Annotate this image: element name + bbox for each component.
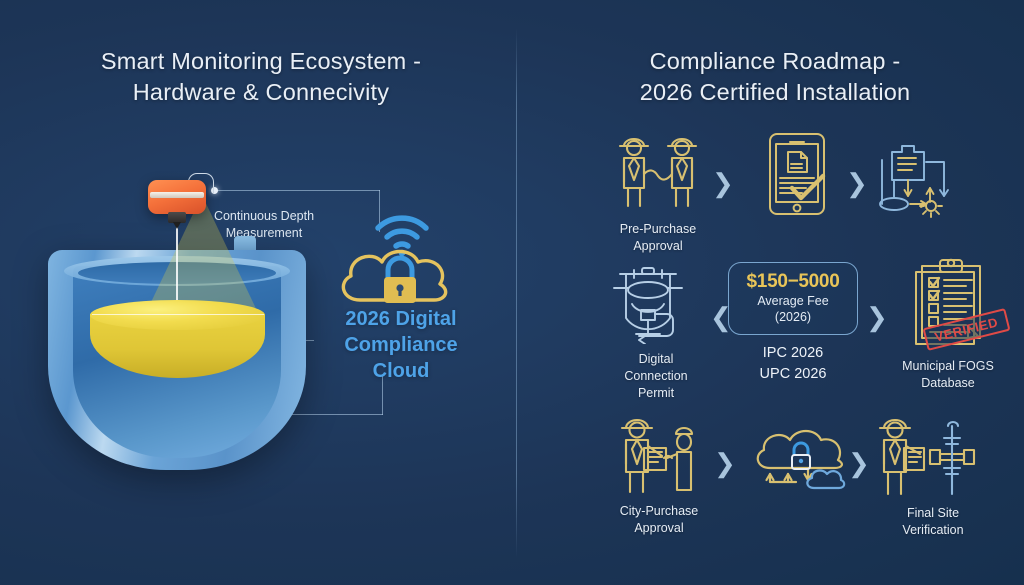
cloud-label-line-1: 2026 Digital <box>308 306 494 332</box>
roadmap-row-3: City-Purchase Approval ❯ <box>516 410 1024 536</box>
process-flow-diagram-icon <box>868 132 984 218</box>
wifi-icon <box>378 218 426 246</box>
inspector-valve-icon <box>868 406 998 498</box>
node-final-site-verification[interactable]: Final Site Verification <box>868 406 998 539</box>
row1-node1-label-2: Approval <box>600 238 716 255</box>
node-label-digital-connection-permit: Digital Connection Permit <box>598 351 714 402</box>
left-panel: Smart Monitoring Ecosystem - Hardware & … <box>0 0 516 585</box>
fee-sub-line-1: Average Fee <box>743 293 843 309</box>
handshake-workers-icon <box>600 128 716 212</box>
average-fee-box[interactable]: $150−5000 Average Fee (2026) <box>728 262 858 335</box>
row3-node1-label-1: City-Purchase <box>600 503 718 520</box>
sensor-emitter-tip <box>173 222 181 229</box>
water-surface-line <box>92 314 264 315</box>
connector-line-top <box>214 190 380 191</box>
interceptor-tank-outline-icon <box>598 256 714 344</box>
left-panel-title: Smart Monitoring Ecosystem - Hardware & … <box>36 46 486 108</box>
row2-node1-label-2: Connection <box>598 368 714 385</box>
cloud-label-line-2: Compliance <box>308 332 494 358</box>
node-label-municipal-fogs: Municipal FOGS Database <box>886 358 1010 392</box>
node-digital-document-approval[interactable] <box>742 128 852 225</box>
node-label-final-site: Final Site Verification <box>868 505 998 539</box>
node-digital-connection-permit[interactable]: Digital Connection Permit <box>598 256 714 402</box>
cloud-wifi-lock-svg <box>326 196 476 316</box>
grease-interceptor-illustration <box>48 250 308 480</box>
row3-arrow-1-icon: ❯ <box>714 450 736 476</box>
cloud-lock-sync-icon <box>744 416 854 500</box>
row2-node3-label-2: Database <box>886 375 1010 392</box>
cloud-label: 2026 Digital Compliance Cloud <box>308 306 494 384</box>
cloud-label-line-3: Cloud <box>308 358 494 384</box>
node-cloud-lock-sync[interactable] <box>744 416 854 505</box>
row3-node1-label-2: Approval <box>600 520 718 537</box>
row2-node3-label-1: Municipal FOGS <box>886 358 1010 375</box>
roadmap-row-2: Digital Connection Permit ❮ $150−5000 Av… <box>516 256 1024 406</box>
inspector-clipboard-icon <box>600 410 718 494</box>
code-upc-2026: UPC 2026 <box>728 364 858 385</box>
row3-arrow-2-icon: ❯ <box>848 450 870 476</box>
roadmap-row-1: Pre-Purchase Approval ❯ <box>516 128 1024 254</box>
fee-and-codes-group: $150−5000 Average Fee (2026) IPC 2026 UP… <box>728 262 858 385</box>
left-title-line-2: Hardware & Connecivity <box>36 77 486 108</box>
node-pre-purchase-approval[interactable]: Pre-Purchase Approval <box>600 128 716 255</box>
row1-arrow-2-icon: ❯ <box>846 170 868 196</box>
left-title-line-1: Smart Monitoring Ecosystem - <box>36 46 486 77</box>
lock-badge-icon <box>792 443 810 469</box>
row3-node3-label-2: Verification <box>868 522 998 539</box>
tank-vessel <box>48 250 306 470</box>
grease-layer-surface <box>90 300 265 330</box>
node-process-flow-diagram[interactable] <box>868 132 984 223</box>
fee-amount: $150−5000 <box>743 271 843 293</box>
node-city-purchase-approval[interactable]: City-Purchase Approval <box>600 410 718 537</box>
right-panel: Compliance Roadmap - 2026 Certified Inst… <box>516 0 1024 585</box>
fee-sub-line-2: (2026) <box>743 309 843 325</box>
right-title-line-1: Compliance Roadmap - <box>560 46 990 77</box>
node-label-pre-purchase: Pre-Purchase Approval <box>600 221 716 255</box>
row3-node3-label-1: Final Site <box>868 505 998 522</box>
row2-arrow-right-icon: ❯ <box>866 304 888 330</box>
right-title-line-2: 2026 Certified Installation <box>560 77 990 108</box>
right-panel-title: Compliance Roadmap - 2026 Certified Inst… <box>560 46 990 108</box>
tablet-document-check-icon <box>742 128 852 220</box>
compliance-cloud-group[interactable]: 2026 Digital Compliance Cloud <box>326 196 476 391</box>
infographic-canvas: Smart Monitoring Ecosystem - Hardware & … <box>0 0 1024 585</box>
node-label-city-purchase: City-Purchase Approval <box>600 503 718 537</box>
node-municipal-fogs-database[interactable]: VERIFIED Municipal FOGS Database <box>886 256 1010 392</box>
sensor-stripe <box>150 192 204 198</box>
ultrasonic-sensor-device[interactable] <box>148 180 218 232</box>
sensor-body <box>148 180 206 214</box>
code-ipc-2026: IPC 2026 <box>728 343 858 364</box>
row1-node1-label-1: Pre-Purchase <box>600 221 716 238</box>
lock-icon <box>384 258 416 303</box>
row2-node1-label-1: Digital <box>598 351 714 368</box>
row1-arrow-1-icon: ❯ <box>712 170 734 196</box>
row2-node1-label-3: Permit <box>598 385 714 402</box>
